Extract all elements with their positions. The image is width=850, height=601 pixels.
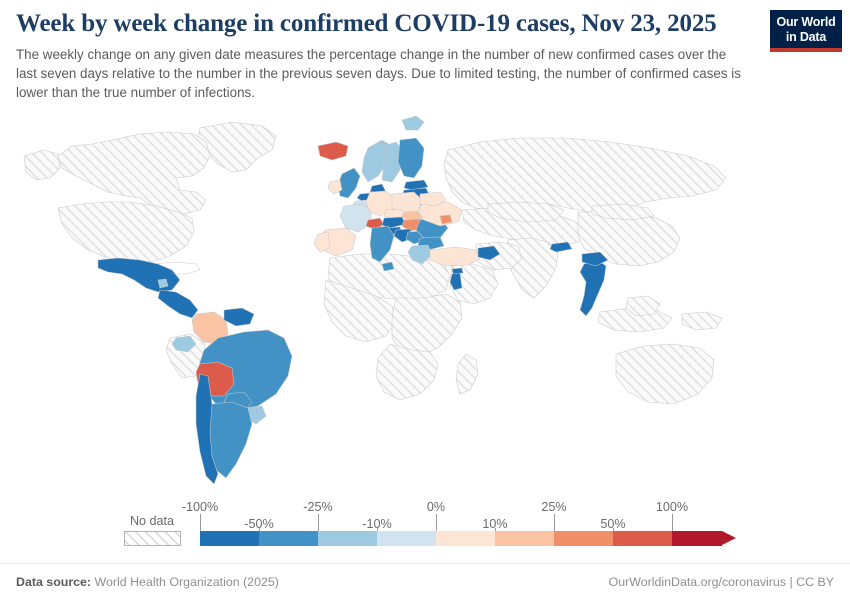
legend-bin-8[interactable] xyxy=(672,531,722,546)
country-africa-central-east[interactable] xyxy=(392,294,462,356)
country-united-kingdom[interactable] xyxy=(338,168,360,198)
legend-tickmark--100 xyxy=(200,514,201,531)
legend-bin-3[interactable] xyxy=(377,531,436,546)
country-thailand[interactable] xyxy=(580,260,606,316)
country-russia[interactable] xyxy=(444,138,726,212)
owid-logo[interactable]: Our World in Data xyxy=(770,10,842,52)
legend-tick-25: 25% xyxy=(541,500,566,514)
world-map[interactable] xyxy=(0,112,850,492)
country-africa-south[interactable] xyxy=(376,344,438,400)
map-svg[interactable] xyxy=(0,112,850,492)
country-france[interactable] xyxy=(340,204,372,232)
country-central-america[interactable] xyxy=(158,290,198,318)
legend-no-data-swatch[interactable] xyxy=(124,531,181,546)
legend-bin-1[interactable] xyxy=(259,531,318,546)
legend-no-data-label: No data xyxy=(130,514,174,528)
color-legend[interactable]: No data -100% -25% 0% 25% 100% -50% -10%… xyxy=(0,497,850,555)
legend-tick-0: 0% xyxy=(427,500,445,514)
country-greenland[interactable] xyxy=(198,122,276,172)
legend-bin-0[interactable] xyxy=(200,531,259,546)
legend-bin-5[interactable] xyxy=(495,531,554,546)
data-source-label: Data source: xyxy=(16,575,91,589)
page-title: Week by week change in confirmed COVID-1… xyxy=(16,10,766,38)
legend-bin-6[interactable] xyxy=(554,531,613,546)
legend-tickmark-100 xyxy=(672,514,673,531)
owid-map-chart: Week by week change in confirmed COVID-1… xyxy=(0,0,850,600)
country-usa[interactable] xyxy=(58,202,194,262)
country-canada[interactable] xyxy=(58,132,210,214)
country-madagascar[interactable] xyxy=(456,354,478,394)
logo-line-1: Our World xyxy=(772,15,840,30)
legend-bin-7[interactable] xyxy=(613,531,672,546)
country-finland[interactable] xyxy=(398,138,424,178)
logo-line-2: in Data xyxy=(772,30,840,45)
legend-tick--100: -100% xyxy=(182,500,218,514)
legend-bin-4[interactable] xyxy=(436,531,495,546)
country-venezuela[interactable] xyxy=(224,308,254,326)
country-australia[interactable] xyxy=(616,344,714,404)
legend-tick-100: 100% xyxy=(656,500,688,514)
chart-subtitle: The weekly change on any given date meas… xyxy=(16,45,746,102)
legend-tickmark--25 xyxy=(318,514,319,531)
legend-tick--25: -25% xyxy=(303,500,332,514)
country-alaska[interactable] xyxy=(24,150,60,180)
country-svalbard[interactable] xyxy=(402,116,424,130)
legend-arrow-icon xyxy=(722,531,736,545)
data-source: Data source: World Health Organization (… xyxy=(16,575,279,589)
chart-header: Week by week change in confirmed COVID-1… xyxy=(16,10,766,102)
footer-attribution[interactable]: OurWorldinData.org/coronavirus | CC BY xyxy=(609,575,834,589)
data-source-value: World Health Organization (2025) xyxy=(95,575,279,589)
country-png[interactable] xyxy=(682,312,722,330)
legend-tickmark-0 xyxy=(436,514,437,531)
country-belize[interactable] xyxy=(158,279,168,288)
chart-footer: Data source: World Health Organization (… xyxy=(0,563,850,601)
legend-tickmark-25 xyxy=(554,514,555,531)
country-portugal[interactable] xyxy=(314,232,330,252)
country-iceland[interactable] xyxy=(318,142,348,160)
legend-bin-2[interactable] xyxy=(318,531,377,546)
